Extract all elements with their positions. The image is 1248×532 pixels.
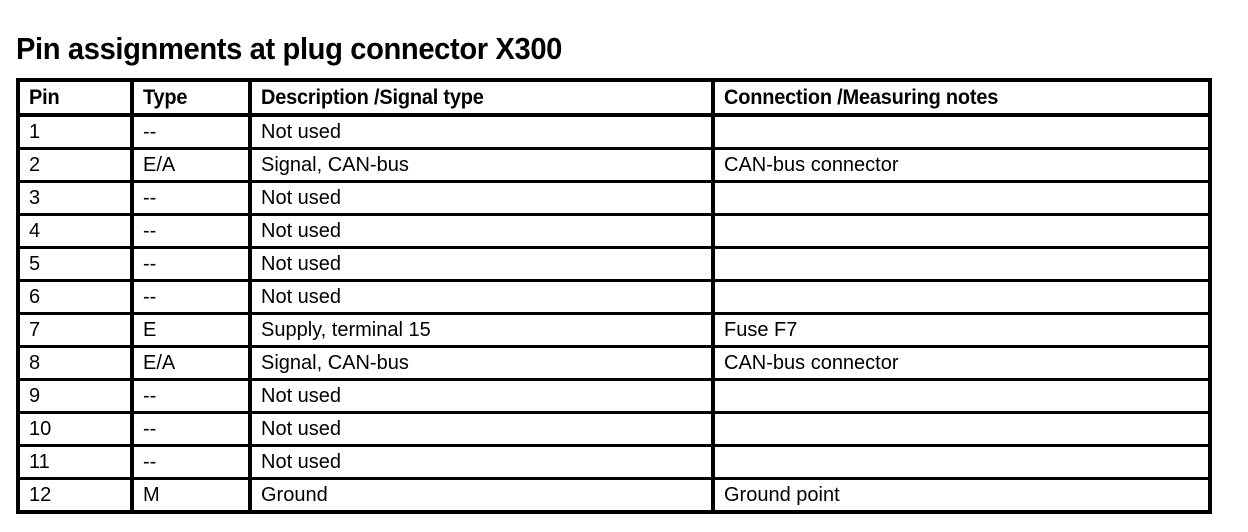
table-cell-type: -- xyxy=(132,182,250,215)
table-cell-text: 1 xyxy=(29,121,40,143)
table-cell-text: -- xyxy=(143,187,156,209)
table-cell-pin: 6 xyxy=(18,281,132,314)
column-header-connection-label: Connection /Measuring notes xyxy=(724,87,998,109)
table-cell-text: 6 xyxy=(29,286,40,308)
table-cell-text: Ground point xyxy=(724,484,840,506)
table-cell-pin: 2 xyxy=(18,149,132,182)
column-header-type-label: Type xyxy=(143,87,187,109)
table-cell-text: 9 xyxy=(29,385,40,407)
table-cell-type: -- xyxy=(132,248,250,281)
table-cell-description: Not used xyxy=(250,215,713,248)
table-cell-description: Not used xyxy=(250,248,713,281)
table-cell-connection: CAN-bus connector xyxy=(713,149,1210,182)
table-cell-text: Not used xyxy=(261,286,341,308)
table-cell-pin: 5 xyxy=(18,248,132,281)
table-cell-type: -- xyxy=(132,115,250,149)
table-cell-type: -- xyxy=(132,413,250,446)
table-cell-connection xyxy=(713,380,1210,413)
table-cell-description: Not used xyxy=(250,380,713,413)
table-header: Pin Type Description /Signal type Connec… xyxy=(18,80,1210,115)
table-cell-text: Ground xyxy=(261,484,328,506)
table-cell-pin: 9 xyxy=(18,380,132,413)
table-row: 4--Not used xyxy=(18,215,1210,248)
table-cell-text: Fuse F7 xyxy=(724,319,797,341)
table-cell-text: Signal, CAN-bus xyxy=(261,352,409,374)
page-root: Pin assignments at plug connector X300 P… xyxy=(0,0,1248,532)
table-cell-text: 7 xyxy=(29,319,40,341)
table-cell-connection: CAN-bus connector xyxy=(713,347,1210,380)
table-cell-description: Ground xyxy=(250,479,713,513)
table-cell-pin: 4 xyxy=(18,215,132,248)
table-cell-text: Supply, terminal 15 xyxy=(261,319,431,341)
table-cell-connection xyxy=(713,115,1210,149)
page-title: Pin assignments at plug connector X300 xyxy=(16,29,562,69)
column-header-connection: Connection /Measuring notes xyxy=(713,80,1210,115)
table-cell-text: -- xyxy=(143,220,156,242)
table-cell-text: 11 xyxy=(29,451,50,473)
table-cell-connection xyxy=(713,248,1210,281)
table-cell-description: Not used xyxy=(250,446,713,479)
table-cell-type: E/A xyxy=(132,149,250,182)
table-cell-text: Not used xyxy=(261,385,341,407)
table-cell-connection: Ground point xyxy=(713,479,1210,513)
table-cell-connection xyxy=(713,413,1210,446)
table-cell-text: 12 xyxy=(29,484,51,506)
table-cell-description: Not used xyxy=(250,182,713,215)
table-cell-text: 8 xyxy=(29,352,40,374)
table-cell-text: E/A xyxy=(143,154,175,176)
table-row: 2E/ASignal, CAN-busCAN-bus connector xyxy=(18,149,1210,182)
table-row: 8E/ASignal, CAN-busCAN-bus connector xyxy=(18,347,1210,380)
table-cell-type: M xyxy=(132,479,250,513)
table-cell-type: E xyxy=(132,314,250,347)
column-header-pin: Pin xyxy=(18,80,132,115)
table-row: 3--Not used xyxy=(18,182,1210,215)
table-cell-text: -- xyxy=(143,121,156,143)
table-cell-pin: 7 xyxy=(18,314,132,347)
table-cell-text: CAN-bus connector xyxy=(724,154,899,176)
table-row: 12MGroundGround point xyxy=(18,479,1210,513)
table-cell-text: Not used xyxy=(261,253,341,275)
table-cell-text: Not used xyxy=(261,220,341,242)
table-cell-pin: 11 xyxy=(18,446,132,479)
table-cell-text: -- xyxy=(143,385,156,407)
table-cell-description: Not used xyxy=(250,115,713,149)
table-cell-type: -- xyxy=(132,446,250,479)
table-cell-text: 3 xyxy=(29,187,40,209)
table-cell-text: Not used xyxy=(261,121,341,143)
table-cell-text: -- xyxy=(143,418,156,440)
table-cell-text: -- xyxy=(143,451,156,473)
table-cell-connection xyxy=(713,182,1210,215)
table-cell-text: Not used xyxy=(261,187,341,209)
table-cell-description: Not used xyxy=(250,281,713,314)
table-cell-text: Not used xyxy=(261,418,341,440)
table-row: 9--Not used xyxy=(18,380,1210,413)
table-cell-text: Signal, CAN-bus xyxy=(261,154,409,176)
table-cell-pin: 8 xyxy=(18,347,132,380)
table-row: 6--Not used xyxy=(18,281,1210,314)
column-header-type: Type xyxy=(132,80,250,115)
table-cell-description: Signal, CAN-bus xyxy=(250,347,713,380)
column-header-description-label: Description /Signal type xyxy=(261,87,484,109)
table-cell-text: -- xyxy=(143,286,156,308)
pin-assignment-table: Pin Type Description /Signal type Connec… xyxy=(16,78,1212,514)
table-cell-text: -- xyxy=(143,253,156,275)
table-cell-text: 2 xyxy=(29,154,40,176)
table-row: 5--Not used xyxy=(18,248,1210,281)
table-cell-type: -- xyxy=(132,281,250,314)
table-cell-description: Supply, terminal 15 xyxy=(250,314,713,347)
table-cell-text: M xyxy=(143,484,160,506)
table-row: 7ESupply, terminal 15Fuse F7 xyxy=(18,314,1210,347)
table-cell-pin: 3 xyxy=(18,182,132,215)
table-cell-text: CAN-bus connector xyxy=(724,352,899,374)
table-cell-text: E xyxy=(143,319,156,341)
table-row: 11--Not used xyxy=(18,446,1210,479)
table-cell-pin: 1 xyxy=(18,115,132,149)
table-cell-type: -- xyxy=(132,380,250,413)
table-header-row: Pin Type Description /Signal type Connec… xyxy=(18,80,1210,115)
table-cell-connection xyxy=(713,215,1210,248)
table-cell-connection: Fuse F7 xyxy=(713,314,1210,347)
table-cell-connection xyxy=(713,446,1210,479)
table-cell-type: E/A xyxy=(132,347,250,380)
column-header-pin-label: Pin xyxy=(29,87,59,109)
table-cell-text: E/A xyxy=(143,352,175,374)
table-cell-text: Not used xyxy=(261,451,341,473)
table-row: 10--Not used xyxy=(18,413,1210,446)
table-cell-text: 4 xyxy=(29,220,40,242)
table-cell-text: 10 xyxy=(29,418,51,440)
table-cell-text: 5 xyxy=(29,253,40,275)
table-cell-type: -- xyxy=(132,215,250,248)
table-cell-pin: 10 xyxy=(18,413,132,446)
table-cell-pin: 12 xyxy=(18,479,132,513)
table-body: 1--Not used2E/ASignal, CAN-busCAN-bus co… xyxy=(18,115,1210,512)
table-cell-connection xyxy=(713,281,1210,314)
table-cell-description: Signal, CAN-bus xyxy=(250,149,713,182)
table-cell-description: Not used xyxy=(250,413,713,446)
column-header-description: Description /Signal type xyxy=(250,80,713,115)
table-row: 1--Not used xyxy=(18,115,1210,149)
